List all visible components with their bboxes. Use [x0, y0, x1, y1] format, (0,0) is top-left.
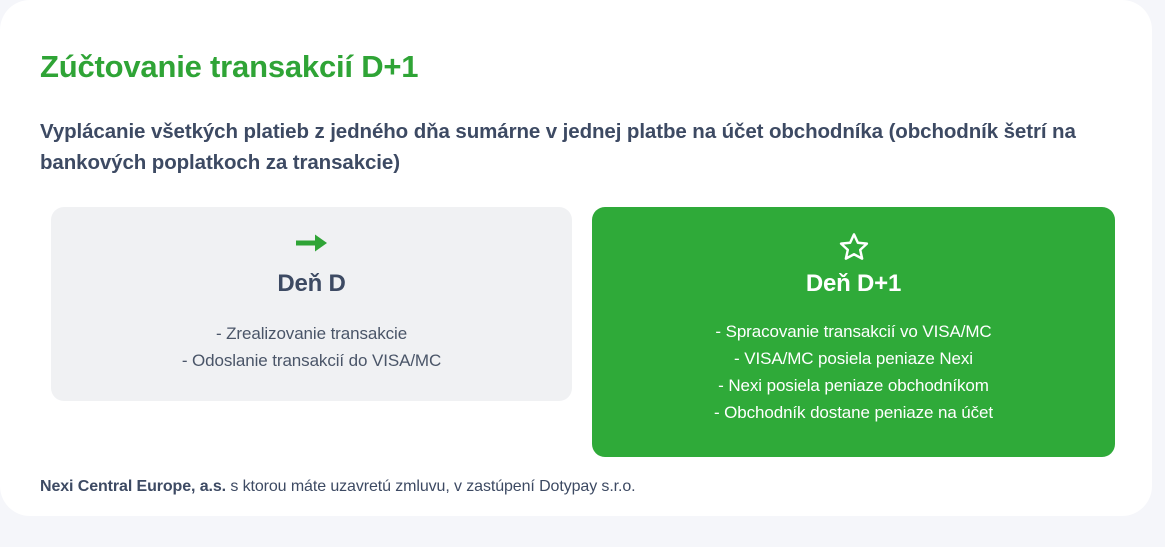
footer-note: Nexi Central Europe, a.s. s ktorou máte …: [40, 478, 636, 496]
list-item: - Spracovanie transakcií vo VISA/MC: [592, 318, 1115, 345]
list-item: - VISA/MC posiela peniaze Nexi: [592, 345, 1115, 372]
card-day-d1: Deň D+1 - Spracovanie transakcií vo VISA…: [592, 207, 1115, 457]
cards-row: Deň D - Zrealizovanie transakcie - Odosl…: [51, 207, 1115, 457]
page-title: Zúčtovanie transakcií D+1: [40, 49, 418, 85]
card-day-d-list: - Zrealizovanie transakcie - Odoslanie t…: [51, 320, 572, 374]
card-day-d1-title: Deň D+1: [592, 270, 1115, 298]
footer-company-name: Nexi Central Europe, a.s.: [40, 478, 226, 495]
list-item: - Zrealizovanie transakcie: [51, 320, 572, 347]
page-subtitle: Vyplácanie všetkých platieb z jedného dň…: [40, 116, 1125, 178]
card-day-d-title: Deň D: [51, 270, 572, 298]
footer-text: s ktorou máte uzavretú zmluvu, v zastúpe…: [226, 478, 636, 495]
star-icon: [592, 231, 1115, 261]
arrow-right-icon: [51, 231, 572, 261]
list-item: - Odoslanie transakcií do VISA/MC: [51, 347, 572, 374]
card-day-d: Deň D - Zrealizovanie transakcie - Odosl…: [51, 207, 572, 401]
list-item: - Nexi posiela peniaze obchodníkom: [592, 372, 1115, 399]
list-item: - Obchodník dostane peniaze na účet: [592, 399, 1115, 426]
card-day-d1-list: - Spracovanie transakcií vo VISA/MC - VI…: [592, 318, 1115, 426]
slide-container: Zúčtovanie transakcií D+1 Vyplácanie vše…: [0, 0, 1152, 516]
